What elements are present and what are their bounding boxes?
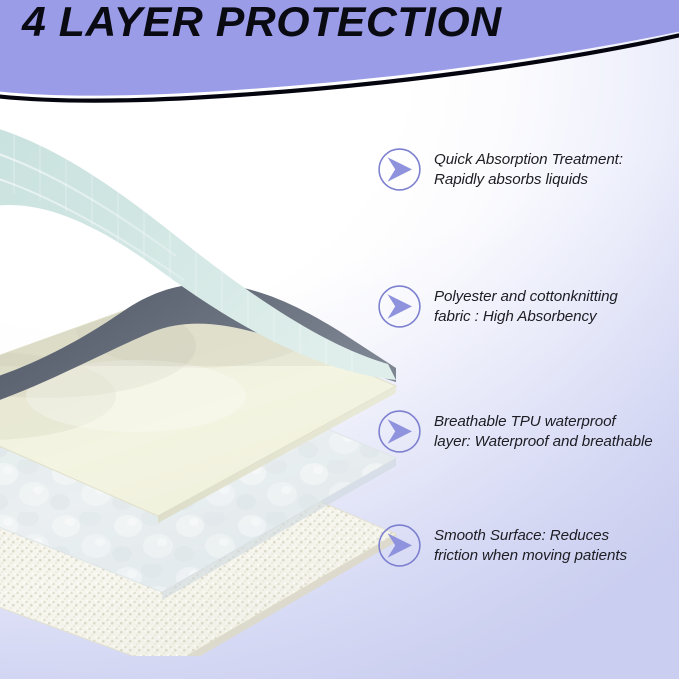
callout-label: Breathable TPU waterproof layer: Waterpr… [434,412,653,451]
callout-label: Polyester and cottonknitting fabric : Hi… [434,287,618,326]
callout-label: Smooth Surface: Reduces friction when mo… [434,526,627,565]
chevron-arrow-icon [377,284,422,329]
callout-quick-absorption[interactable]: Quick Absorption Treatment: Rapidly abso… [377,147,623,192]
chevron-arrow-icon [377,409,422,454]
chevron-arrow-icon [377,147,422,192]
product-infographic: 4 LAYER PROTECTION Quick Absorption Trea… [0,0,679,679]
callout-polyester-cotton[interactable]: Polyester and cottonknitting fabric : Hi… [377,284,618,329]
header-banner: 4 LAYER PROTECTION [0,0,679,120]
callout-label: Quick Absorption Treatment: Rapidly abso… [434,150,623,189]
callout-smooth-surface[interactable]: Smooth Surface: Reduces friction when mo… [377,523,627,568]
chevron-arrow-icon [377,523,422,568]
page-title: 4 LAYER PROTECTION [22,0,593,45]
callout-tpu-waterproof[interactable]: Breathable TPU waterproof layer: Waterpr… [377,409,653,454]
